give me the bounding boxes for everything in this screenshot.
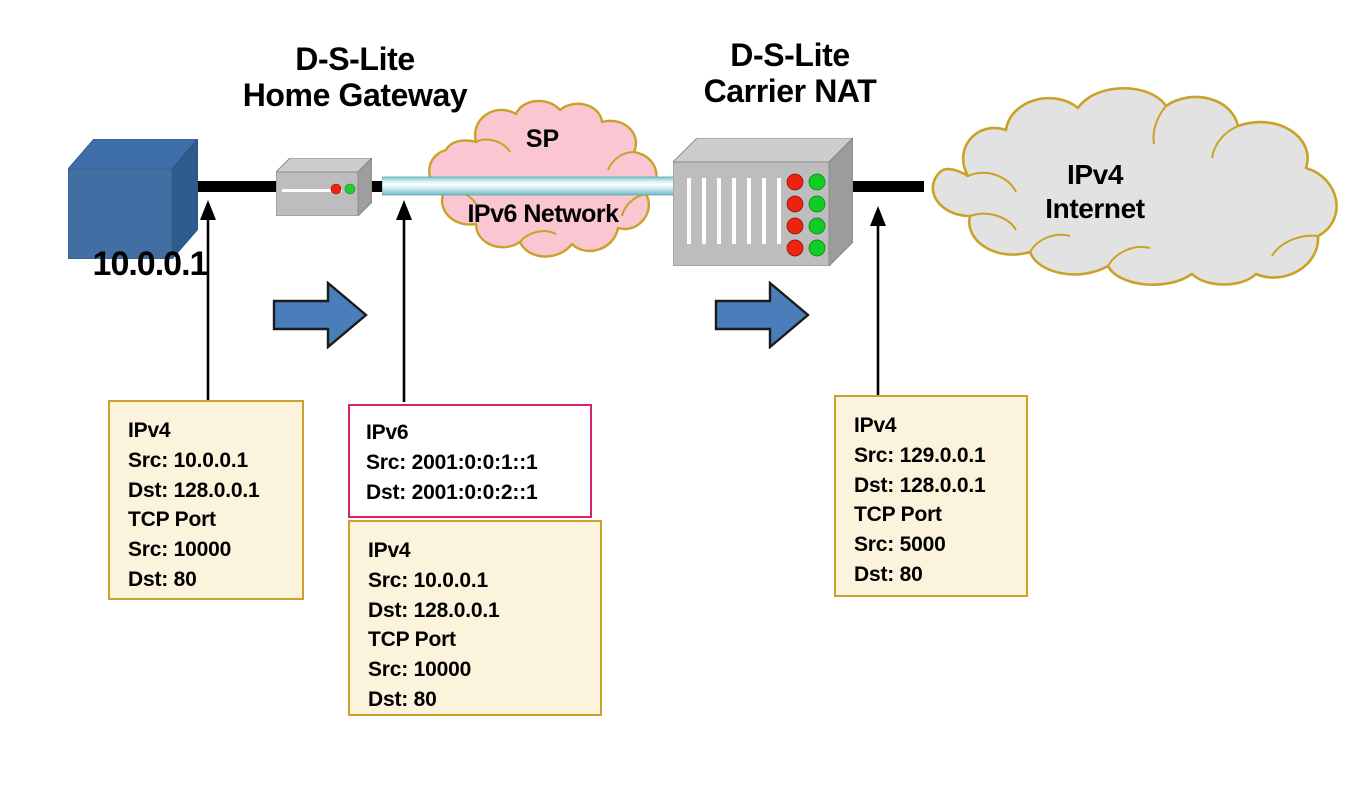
callout-pointer-left <box>196 200 220 402</box>
packet-line: Src: 5000 <box>854 530 1026 560</box>
diagram-canvas: SP IPv6 Network <box>0 0 1366 797</box>
home-gateway-device <box>276 158 372 216</box>
packet-box-right: IPv4 Src: 129.0.0.1 Dst: 128.0.0.1 TCP P… <box>834 395 1028 597</box>
ipv4-internet-label: IPv4 Internet <box>985 158 1205 225</box>
carrier-nat-device <box>673 138 853 266</box>
packet-box-middle-ipv6-header: IPv6 Src: 2001:0:0:1::1 Dst: 2001:0:0:2:… <box>348 404 592 518</box>
packet-line: Dst: 80 <box>128 565 302 595</box>
callout-pointer-right <box>866 206 890 402</box>
home-gateway-title: D-S-Lite Home Gateway <box>205 42 505 114</box>
packet-line: Dst: 128.0.0.1 <box>128 476 302 506</box>
packet-line: Src: 2001:0:0:1::1 <box>366 448 590 478</box>
packet-line: Dst: 128.0.0.1 <box>854 471 1026 501</box>
flow-direction-arrow-left <box>272 281 368 349</box>
packet-box-middle-ipv4-payload: IPv4 Src: 10.0.0.1 Dst: 128.0.0.1 TCP Po… <box>348 520 602 716</box>
packet-line: Src: 10.0.0.1 <box>128 446 302 476</box>
packet-line: Dst: 80 <box>854 560 1026 590</box>
sp-label: SP <box>455 125 630 154</box>
packet-line: Src: 10000 <box>128 535 302 565</box>
packet-line: Src: 10.0.0.1 <box>368 566 600 596</box>
packet-line: IPv6 <box>366 418 590 448</box>
host-computer-cube <box>68 139 198 259</box>
packet-line: IPv4 <box>368 536 600 566</box>
flow-direction-arrow-right <box>714 281 810 349</box>
packet-line: Src: 129.0.0.1 <box>854 441 1026 471</box>
packet-line: Dst: 2001:0:0:2::1 <box>366 478 590 508</box>
packet-line: TCP Port <box>368 625 600 655</box>
packet-line: Src: 10000 <box>368 655 600 685</box>
carrier-nat-title: D-S-Lite Carrier NAT <box>640 38 940 110</box>
packet-line: Dst: 128.0.0.1 <box>368 596 600 626</box>
packet-line: IPv4 <box>854 411 1026 441</box>
packet-box-left: IPv4 Src: 10.0.0.1 Dst: 128.0.0.1 TCP Po… <box>108 400 304 600</box>
callout-pointer-middle <box>392 200 416 402</box>
packet-line: TCP Port <box>854 500 1026 530</box>
link-host-to-gateway <box>186 181 282 192</box>
ipv6-tunnel-pipe <box>382 176 680 196</box>
packet-line: TCP Port <box>128 505 302 535</box>
packet-line: Dst: 80 <box>368 685 600 715</box>
ipv6-network-label: IPv6 Network <box>418 200 668 229</box>
packet-line: IPv4 <box>128 416 302 446</box>
